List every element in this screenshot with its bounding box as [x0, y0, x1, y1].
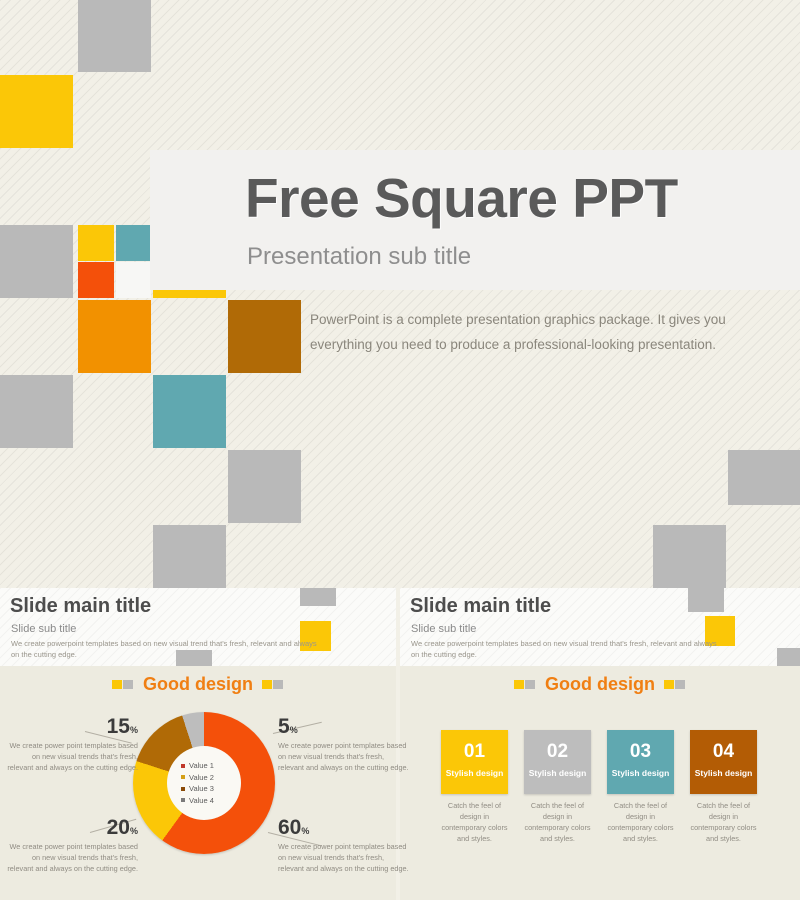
card-02[interactable]: 02Stylish design — [524, 730, 591, 794]
legend-item: Value 2 — [181, 773, 241, 782]
gray-square-mid-left — [0, 225, 73, 298]
orange-red-small — [78, 262, 114, 298]
callout-5-value: 5% — [278, 716, 338, 737]
gray-square-header — [300, 588, 336, 606]
legend-label: Value 4 — [189, 796, 214, 805]
legend-swatch-icon — [181, 775, 185, 779]
legend-item: Value 4 — [181, 796, 241, 805]
callout-5-text: We create power point templates based on… — [278, 741, 410, 774]
callout-20-value: 20% — [78, 817, 138, 838]
legend-item: Value 1 — [181, 761, 241, 770]
card-number: 01 — [441, 741, 508, 763]
card-body-04: Catch the feel of design in contemporary… — [690, 801, 757, 845]
slide-right-description: We create powerpoint templates based on … — [411, 639, 721, 661]
legend-label: Value 1 — [189, 761, 214, 770]
orange-square — [78, 300, 151, 373]
gray-square-header-right — [777, 648, 800, 666]
gray-square-top — [78, 0, 151, 72]
slide-left-description: We create powerpoint templates based on … — [11, 639, 321, 661]
white-small — [116, 262, 151, 298]
gray-square-header — [688, 588, 724, 612]
slide-right-header: Slide main title Slide sub title We crea… — [400, 588, 800, 666]
square-deco-icon — [112, 680, 134, 689]
hero-slide: Free Square PPT Presentation sub title P… — [0, 0, 800, 588]
card-body-02: Catch the feel of design in contemporary… — [524, 801, 591, 845]
callout-60-value: 60% — [278, 817, 338, 838]
gray-square-lower-left — [0, 375, 73, 448]
legend-item: Value 3 — [181, 784, 241, 793]
slide-left-header: Slide main title Slide sub title We crea… — [0, 588, 396, 666]
legend-label: Value 3 — [189, 784, 214, 793]
chart-legend: Value 1Value 2Value 3Value 4 — [167, 746, 241, 820]
card-label: Stylish design — [607, 768, 674, 778]
page-subtitle: Presentation sub title — [247, 243, 471, 271]
gray-square-lower — [153, 525, 226, 588]
card-04[interactable]: 04Stylish design — [690, 730, 757, 794]
yellow-small-a — [78, 225, 114, 261]
square-deco-icon — [664, 680, 686, 689]
card-03[interactable]: 03Stylish design — [607, 730, 674, 794]
legend-label: Value 2 — [189, 773, 214, 782]
yellow-square-left — [0, 75, 73, 148]
slide-right-section-title: Good design — [545, 674, 655, 695]
slide-right-section-heading: Good design — [400, 672, 800, 696]
slide-right-sub-title: Slide sub title — [411, 623, 476, 635]
card-body-01: Catch the feel of design in contemporary… — [441, 801, 508, 845]
teal-square — [153, 375, 226, 448]
slide-left-section-title: Good design — [143, 674, 253, 695]
legend-swatch-icon — [181, 798, 185, 802]
page-title: Free Square PPT — [245, 166, 678, 230]
slide-right-main-title: Slide main title — [410, 595, 551, 618]
brown-square — [228, 300, 301, 373]
square-deco-icon — [262, 680, 284, 689]
legend-swatch-icon — [181, 764, 185, 768]
card-label: Stylish design — [690, 768, 757, 778]
callout-20-text: We create power point templates based on… — [6, 842, 138, 875]
card-number: 02 — [524, 741, 591, 763]
gray-square-right-top — [728, 450, 800, 505]
card-label: Stylish design — [441, 768, 508, 778]
callout-60-text: We create power point templates based on… — [278, 842, 410, 875]
donut-chart[interactable]: Value 1Value 2Value 3Value 4 — [133, 712, 275, 854]
slide-deck-preview: Free Square PPT Presentation sub title P… — [0, 0, 800, 900]
slide-left-sub-title: Slide sub title — [11, 623, 76, 635]
square-deco-icon — [514, 680, 536, 689]
card-01[interactable]: 01Stylish design — [441, 730, 508, 794]
slide-left-section-heading: Good design — [0, 672, 396, 696]
hero-description: PowerPoint is a complete presentation gr… — [310, 308, 730, 358]
teal-small — [116, 225, 151, 261]
card-label: Stylish design — [524, 768, 591, 778]
gray-square-right — [653, 525, 726, 588]
card-number: 03 — [607, 741, 674, 763]
card-body-03: Catch the feel of design in contemporary… — [607, 801, 674, 845]
callout-15-value: 15% — [78, 716, 138, 737]
card-number: 04 — [690, 741, 757, 763]
gray-square-center — [228, 450, 301, 523]
callout-15-text: We create power point templates based on… — [6, 741, 138, 774]
slide-left-main-title: Slide main title — [10, 595, 151, 618]
legend-swatch-icon — [181, 787, 185, 791]
